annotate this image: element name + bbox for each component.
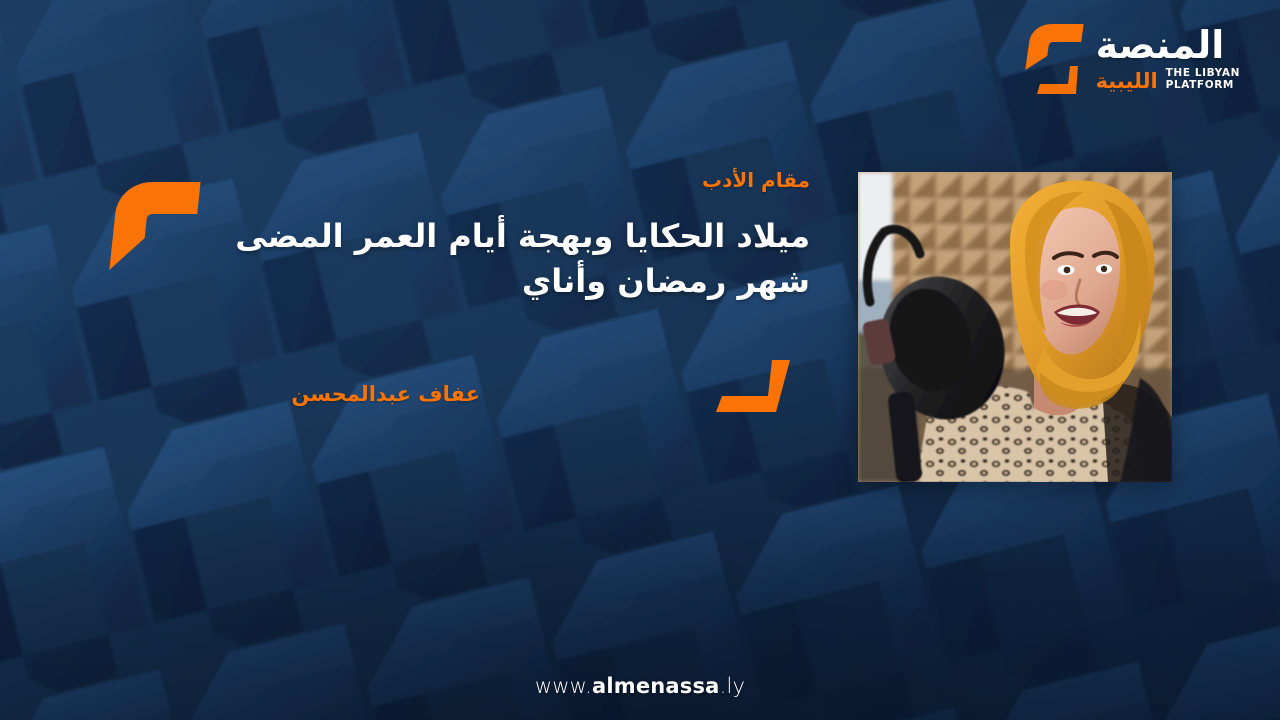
logo-arabic-secondary: الليبية [1096,71,1158,92]
text-block: مقام الأدب ميلاد الحكايا وبهجة أيام العم… [170,168,810,305]
logo-wordmark: المنصة THE LIBYAN PLATFORM الليبية [1096,26,1240,93]
episode-title-line1: ميلاد الحكايا وبهجة أيام العمر المضى [235,217,810,255]
logo-hook-icon [1016,22,1086,96]
url-tld: .ly [720,674,746,698]
episode-title-line2: شهر رمضان وأناي [170,259,810,304]
guest-photo [858,172,1172,482]
logo-english-name: THE LIBYAN PLATFORM [1166,67,1240,93]
url-name: almenassa [592,674,720,698]
program-kicker: مقام الأدب [170,168,810,192]
logo-arabic-primary: المنصة [1096,26,1225,64]
footer-website-url[interactable]: www.almenassa.ly [0,674,1280,698]
promo-card: المنصة THE LIBYAN PLATFORM الليبية مقام … [0,0,1280,720]
logo-subrow: THE LIBYAN PLATFORM الليبية [1096,67,1240,93]
author-name: عفاف عبدالمحسن [180,382,480,406]
episode-title: ميلاد الحكايا وبهجة أيام العمر المضى شهر… [170,214,810,305]
site-logo[interactable]: المنصة THE LIBYAN PLATFORM الليبية [1016,22,1240,96]
orange-hook-mark-small [712,360,794,412]
url-prefix: www. [535,674,592,698]
